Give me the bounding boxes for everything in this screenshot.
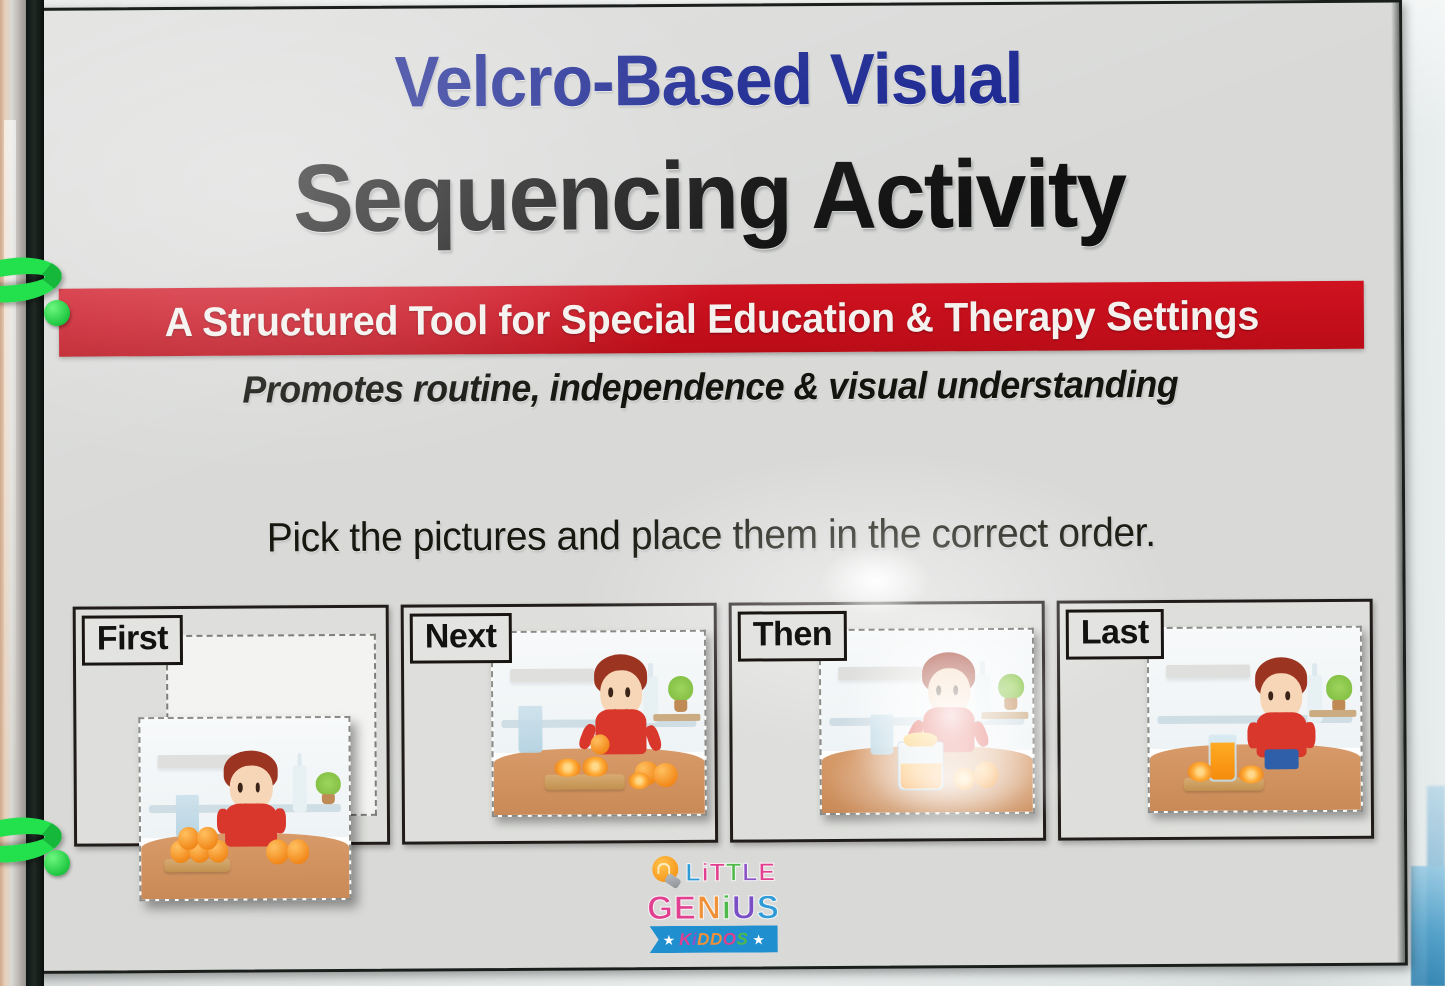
laminated-activity-page: Velcro-Based Visual Sequencing Activity … <box>14 0 1408 974</box>
illustration-boy-cutting-oranges <box>493 632 705 815</box>
slot-label-then: Then <box>738 611 848 662</box>
illustration-boy-juicing-oranges <box>821 630 1033 813</box>
logo-word-kiddos: KiDDOS <box>679 931 748 948</box>
tagline: Promotes routine, independence & visual … <box>61 363 1360 414</box>
binder-ring-tip-top <box>44 300 70 326</box>
sequence-slot-last[interactable]: Last <box>1057 599 1374 841</box>
brand-logo: LiTTLE GENiUS ★ KiDDOS ★ <box>613 853 814 953</box>
subtitle-banner: A Structured Tool for Special Education … <box>59 281 1364 357</box>
sequence-slot-first[interactable]: First <box>73 605 390 847</box>
slot-label-next: Next <box>410 613 512 664</box>
instruction-text: Pick the pictures and place them in the … <box>55 508 1368 563</box>
sequence-card-first[interactable] <box>138 716 351 901</box>
sequence-card-then[interactable] <box>819 628 1035 815</box>
binder-ring-tip-bottom <box>44 850 70 876</box>
logo-ribbon: ★ KiDDOS ★ <box>650 925 778 953</box>
star-icon-left: ★ <box>663 932 676 946</box>
sequence-slot-next[interactable]: Next <box>401 603 718 845</box>
sequence-card-next[interactable] <box>491 630 707 817</box>
star-icon-right: ★ <box>752 932 765 946</box>
sequence-card-last[interactable] <box>1147 626 1363 813</box>
slot-label-first: First <box>82 615 183 666</box>
background-object <box>1411 866 1445 986</box>
subtitle-banner-text: A Structured Tool for Special Education … <box>164 292 1259 346</box>
photo-scene: Velcro-Based Visual Sequencing Activity … <box>0 0 1445 986</box>
sequence-strip: First <box>73 599 1374 847</box>
lightbulb-icon <box>650 856 682 890</box>
page-title-line2: Sequencing Activity <box>52 145 1365 249</box>
slot-label-last: Last <box>1066 609 1164 660</box>
page-title-line1: Velcro-Based Visual <box>59 41 1358 121</box>
illustration-boy-with-juice-glass <box>1149 628 1361 811</box>
sequence-slot-then[interactable]: Then <box>729 601 1046 843</box>
logo-word-little: LiTTLE <box>685 860 776 886</box>
illustration-boy-with-oranges <box>140 718 349 899</box>
logo-word-genius: GENiUS <box>613 890 813 924</box>
